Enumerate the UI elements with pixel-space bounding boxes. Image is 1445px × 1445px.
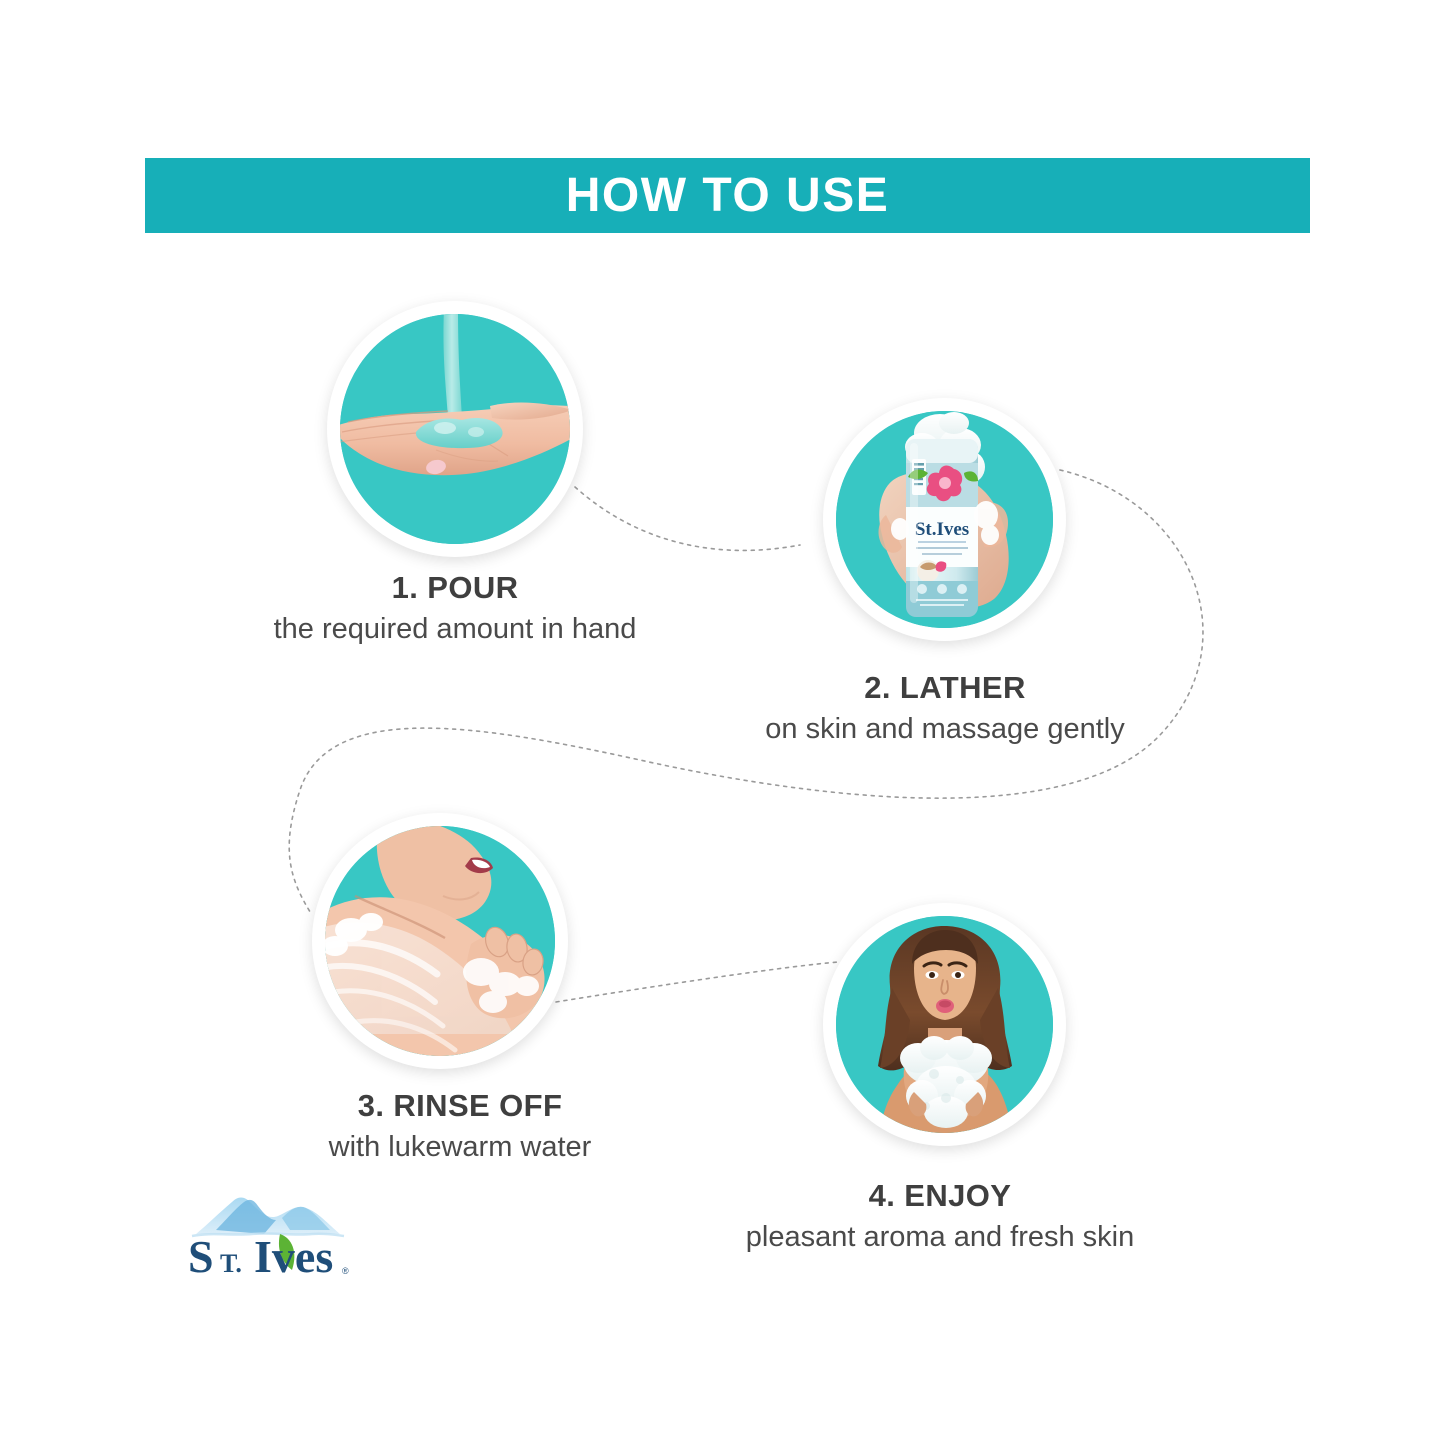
lather-illustration: St.Ives bbox=[836, 411, 1053, 628]
step-4-description: pleasant aroma and fresh skin bbox=[695, 1220, 1185, 1255]
step-4-image-circle bbox=[823, 903, 1066, 1146]
step-1-description: the required amount in hand bbox=[205, 612, 705, 647]
step-4-caption: 4. ENJOY pleasant aroma and fresh skin bbox=[695, 1178, 1185, 1254]
step-2-title: 2. LATHER bbox=[700, 670, 1190, 706]
how-to-use-header-bar: HOW TO USE bbox=[145, 158, 1310, 233]
step-3-caption: 3. RINSE OFF with lukewarm water bbox=[250, 1088, 670, 1164]
pour-illustration bbox=[340, 314, 570, 544]
st-ives-word-t: T. bbox=[220, 1249, 242, 1278]
step-1-image-circle bbox=[327, 301, 583, 557]
step-4-title: 4. ENJOY bbox=[695, 1178, 1185, 1214]
st-ives-logo-artwork: S T. Ives ® bbox=[172, 1190, 362, 1290]
step-3-description: with lukewarm water bbox=[250, 1130, 670, 1165]
hand-with-poured-gel-photo bbox=[340, 314, 570, 544]
page-title: HOW TO USE bbox=[566, 172, 889, 220]
step-3-title: 3. RINSE OFF bbox=[250, 1088, 670, 1124]
step-3-image-circle bbox=[312, 813, 568, 1069]
enjoy-illustration bbox=[836, 916, 1053, 1133]
st-ives-logo: S T. Ives ® bbox=[172, 1190, 362, 1290]
st-ives-word-st: S bbox=[188, 1231, 214, 1282]
model-blowing-foam-photo bbox=[836, 916, 1053, 1133]
st-ives-bottle-in-hand-photo: St.Ives bbox=[836, 411, 1053, 628]
step-2-image-circle: St.Ives bbox=[823, 398, 1066, 641]
step-1-title: 1. POUR bbox=[205, 570, 705, 606]
st-ives-word-ives: Ives bbox=[254, 1231, 333, 1282]
registered-trademark-mark: ® bbox=[342, 1266, 349, 1276]
rinse-off-illustration bbox=[325, 826, 555, 1056]
step-2-description: on skin and massage gently bbox=[700, 712, 1190, 747]
lathered-shoulder-photo bbox=[325, 826, 555, 1056]
step-2-caption: 2. LATHER on skin and massage gently bbox=[700, 670, 1190, 746]
bottle-brand-text: St.Ives bbox=[915, 519, 969, 540]
how-to-use-infographic: HOW TO USE bbox=[0, 0, 1445, 1445]
step-1-caption: 1. POUR the required amount in hand bbox=[205, 570, 705, 646]
